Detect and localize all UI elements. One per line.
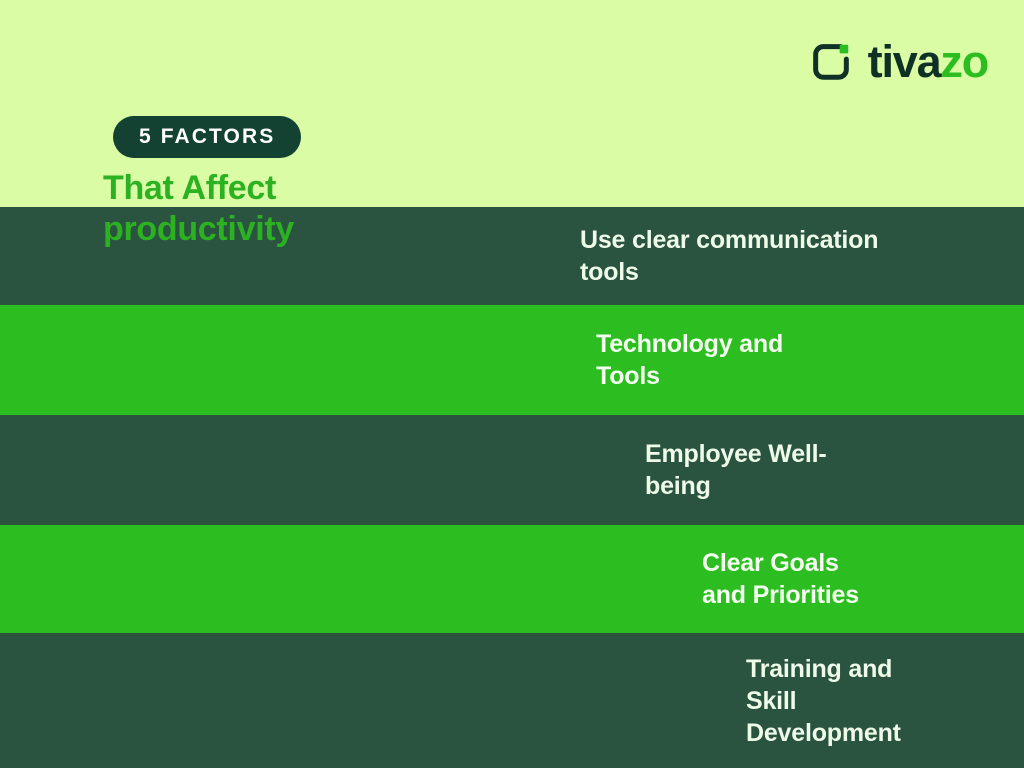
band-wellbeing-label: Employee Well- being [645,438,827,502]
factors-badge: 5 FACTORS [113,116,301,158]
band-wellbeing[interactable]: Employee Well- being [0,415,1024,525]
page-title-line-2: productivity [103,209,433,250]
band-communication-label: Use clear communication tools [580,224,878,288]
band-technology[interactable]: Technology and Tools [0,305,1024,415]
band-technology-label: Technology and Tools [596,328,783,392]
page-title: That Affect productivity [103,168,433,251]
band-goals-label: Clear Goals and Priorities [702,547,859,611]
band-training[interactable]: Training and Skill Development [0,633,1024,768]
page-title-line-1: That Affect [103,168,433,209]
bracket-square-icon [808,38,854,84]
brand-wordmark-part-1: tiva [868,36,941,87]
band-goals[interactable]: Clear Goals and Priorities [0,525,1024,633]
brand-logo[interactable]: tivazo [808,38,988,84]
infographic-canvas: Use clear communication tools Technology… [0,0,1024,768]
brand-wordmark-part-2: zo [940,36,988,87]
band-training-label: Training and Skill Development [746,653,901,749]
brand-wordmark: tivazo [868,39,988,84]
